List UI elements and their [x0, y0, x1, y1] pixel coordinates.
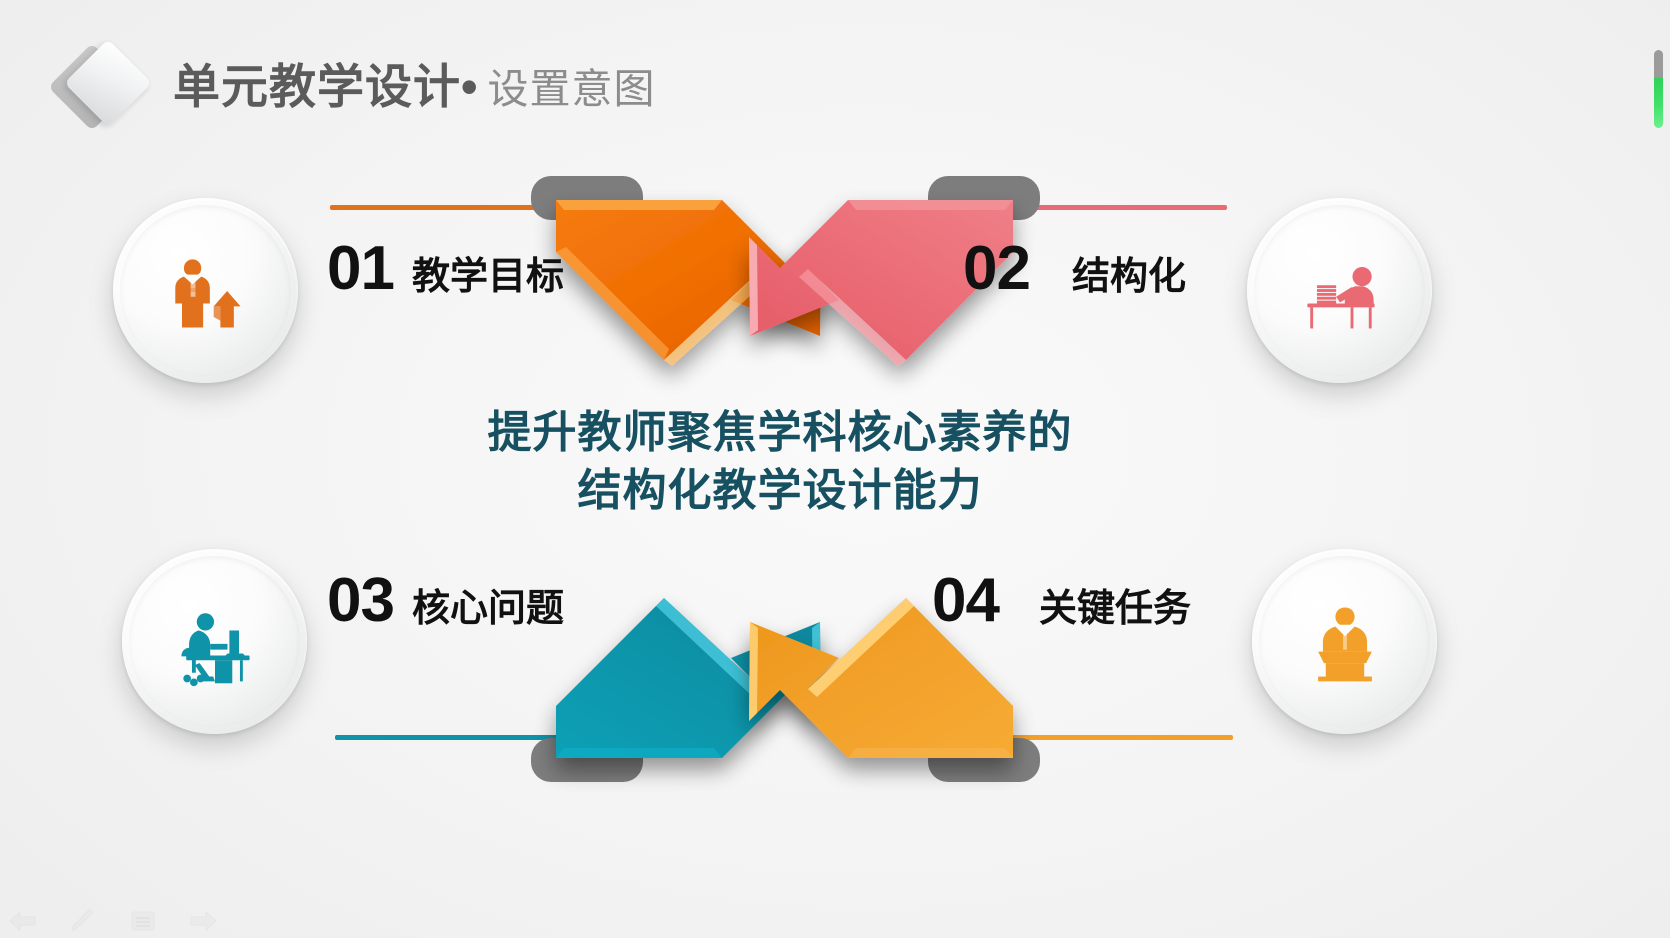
back-arrow-icon[interactable]: [8, 908, 38, 934]
center-statement-line-1: 提升教师聚焦学科核心素养的: [0, 404, 1560, 462]
item-number: 01: [327, 238, 394, 300]
pen-icon[interactable]: [68, 908, 98, 934]
icon-circle-02[interactable]: [1247, 198, 1432, 383]
item-04[interactable]: 04 关键任务: [932, 570, 1191, 632]
arrow-up-left-teal: [556, 598, 821, 758]
item-label: 核心问题: [412, 590, 564, 628]
person-podium-icon: [1297, 594, 1393, 690]
person-desk-books-icon: [1292, 243, 1388, 339]
item-01[interactable]: 01 教学目标: [327, 238, 564, 300]
icon-circle-03[interactable]: [122, 549, 307, 734]
item-label: 关键任务: [1039, 590, 1191, 628]
slide-canvas: 单元教学设计 • 设置意图: [0, 0, 1670, 938]
arrow-tab-top-left: [531, 176, 643, 220]
forward-arrow-icon[interactable]: [188, 908, 218, 934]
businessman-growth-icon: [158, 243, 254, 339]
menu-icon[interactable]: [128, 908, 158, 934]
slide-header: 单元教学设计 • 设置意图: [55, 38, 655, 134]
center-statement-line-2: 结构化教学设计能力: [0, 462, 1560, 520]
title-separator-dot: •: [461, 59, 477, 114]
connector-line-02: [905, 205, 1227, 210]
connector-line-03: [335, 735, 640, 740]
item-label: 教学目标: [412, 258, 564, 296]
scroll-position-indicator[interactable]: [1654, 50, 1663, 128]
connector-line-01: [330, 205, 640, 210]
item-03[interactable]: 03 核心问题: [327, 570, 564, 632]
item-number: 02: [963, 238, 1030, 300]
page-title: 单元教学设计: [173, 63, 461, 110]
diamond-icon: [55, 38, 155, 134]
item-02[interactable]: 02 结构化: [963, 238, 1186, 300]
arrow-down-left-orange: [556, 200, 821, 366]
page-subtitle: 设置意图: [487, 69, 655, 110]
connector-line-04: [900, 735, 1233, 740]
item-number: 04: [932, 570, 999, 632]
arrow-tab-bottom-right: [928, 738, 1040, 782]
arrow-tab-bottom-left: [531, 738, 643, 782]
bottom-toolbar: [8, 908, 218, 934]
item-label: 结构化: [1072, 258, 1186, 296]
center-statement: 提升教师聚焦学科核心素养的 结构化教学设计能力: [0, 404, 1560, 520]
person-computer-desk-icon: [167, 594, 263, 690]
icon-circle-04[interactable]: [1252, 549, 1437, 734]
icon-circle-01[interactable]: [113, 198, 298, 383]
item-number: 03: [327, 570, 394, 632]
arrow-tab-top-right: [928, 176, 1040, 220]
